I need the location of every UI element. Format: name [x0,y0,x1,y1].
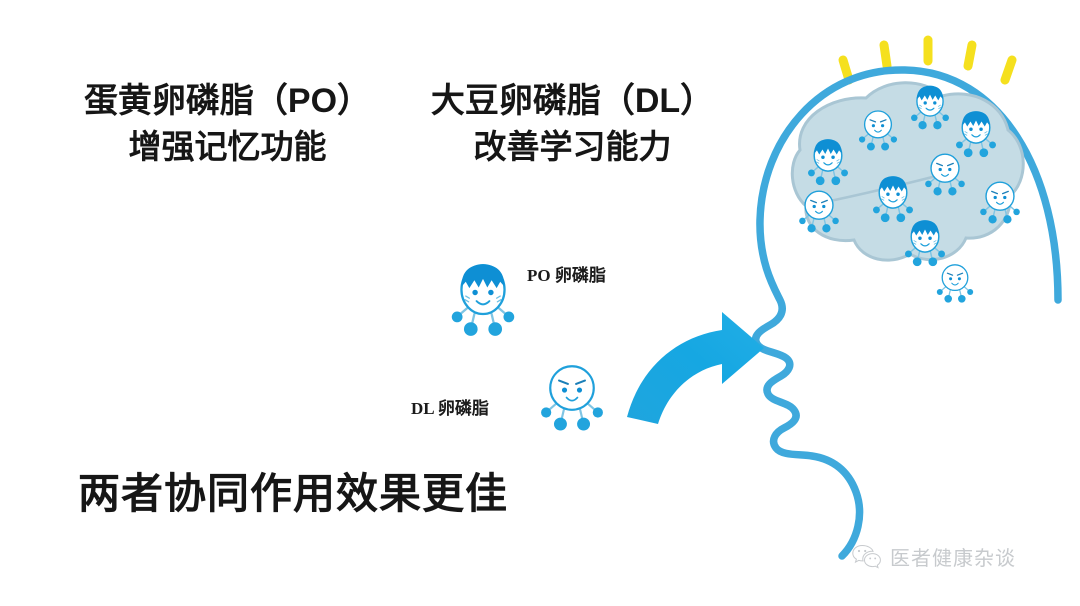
brain-mascot-group [799,86,1020,303]
front-mascot-po [452,264,514,335]
curved-arrow-icon [627,312,764,424]
slide-canvas: 蛋黄卵磷脂（PO） 大豆卵磷脂（DL） 增强记忆功能 改善学习能力 [0,0,1080,606]
headline-title-row: 蛋黄卵磷脂（PO） 大豆卵磷脂（DL） [55,78,745,124]
headline-title-right: 大豆卵磷脂（DL） [400,78,745,124]
front-mascot-dl [541,366,603,430]
headline-subtitle-left: 增强记忆功能 [55,124,400,170]
brain-fissure [806,172,952,206]
watermark: 医者健康杂谈 [852,542,1016,571]
brain-shape [792,83,1023,260]
head-outline [756,70,1058,556]
spark-lines-icon [843,40,1012,80]
slogan-text: 两者协同作用效果更佳 [78,468,508,520]
label-dl-lecithin: DL 卵磷脂 [411,394,489,419]
headline-subtitle-row: 增强记忆功能 改善学习能力 [55,124,745,170]
wechat-icon [852,544,882,570]
headline-block: 蛋黄卵磷脂（PO） 大豆卵磷脂（DL） 增强记忆功能 改善学习能力 [55,78,745,170]
watermark-text: 医者健康杂谈 [890,542,1016,571]
headline-title-left: 蛋黄卵磷脂（PO） [55,78,400,124]
headline-subtitle-right: 改善学习能力 [400,124,745,170]
label-po-lecithin: PO 卵磷脂 [527,261,606,286]
